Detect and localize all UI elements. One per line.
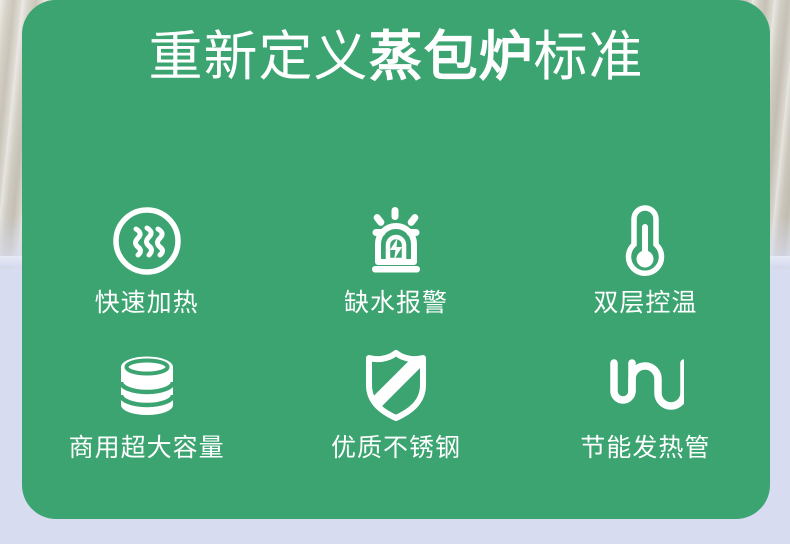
feature-item-dual-temp-control[interactable]: 双层控温 bbox=[521, 198, 770, 343]
heating-tube-icon bbox=[606, 343, 684, 429]
thermometer-icon bbox=[619, 198, 671, 284]
title-highlight: 蒸包炉 bbox=[369, 27, 534, 87]
promo-banner: 重新定义蒸包炉标准 bbox=[0, 0, 790, 544]
feature-item-water-alarm[interactable]: 缺水报警 bbox=[271, 198, 520, 343]
shield-icon bbox=[363, 343, 429, 429]
feature-label: 缺水报警 bbox=[344, 288, 448, 318]
page-title: 重新定义蒸包炉标准 bbox=[22, 26, 770, 88]
feature-row: 快速加热 bbox=[22, 198, 770, 343]
capacity-cylinder-icon bbox=[115, 343, 179, 429]
feature-item-rapid-heating[interactable]: 快速加热 bbox=[22, 198, 271, 343]
steam-heat-icon bbox=[110, 198, 184, 284]
title-suffix: 标准 bbox=[534, 27, 644, 87]
feature-grid: 快速加热 bbox=[22, 198, 770, 485]
feature-item-heating-tube[interactable]: 节能发热管 bbox=[521, 343, 770, 485]
feature-item-large-capacity[interactable]: 商用超大容量 bbox=[22, 343, 271, 485]
alarm-siren-icon bbox=[360, 198, 432, 284]
feature-row: 商用超大容量 bbox=[22, 343, 770, 485]
feature-label: 节能发热管 bbox=[580, 433, 710, 463]
title-prefix: 重新定义 bbox=[149, 27, 369, 87]
feature-label: 优质不锈钢 bbox=[331, 433, 461, 463]
feature-label: 双层控温 bbox=[593, 288, 697, 318]
feature-label: 快速加热 bbox=[95, 288, 199, 318]
green-feature-card: 重新定义蒸包炉标准 bbox=[22, 0, 770, 519]
feature-item-stainless-steel[interactable]: 优质不锈钢 bbox=[271, 343, 520, 485]
feature-label: 商用超大容量 bbox=[69, 433, 225, 463]
